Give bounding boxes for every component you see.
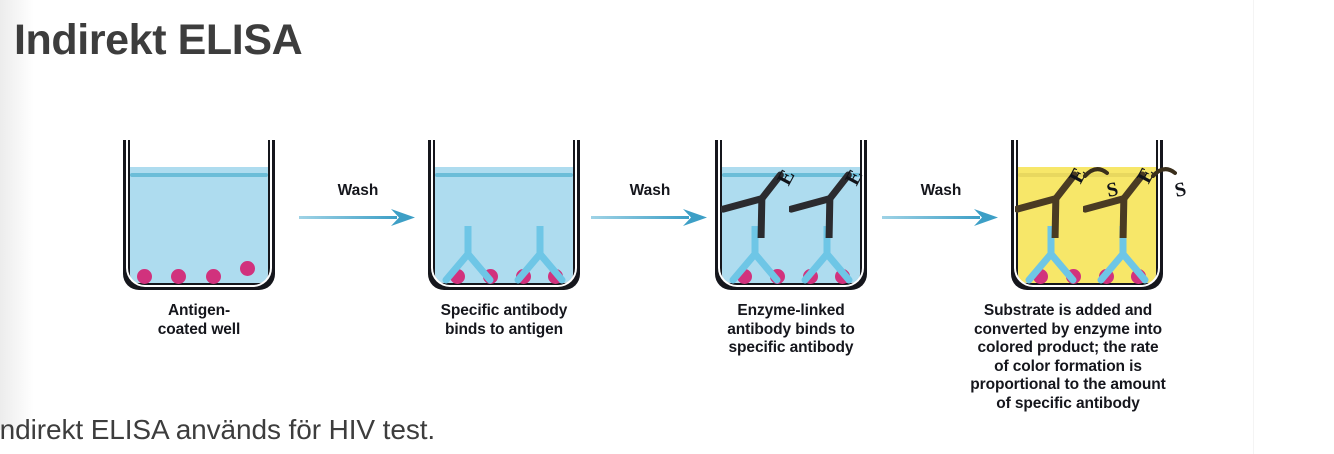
wash-label: Wash: [882, 182, 1000, 200]
arrow-right-icon: [299, 207, 417, 229]
caption-line: coated well: [104, 321, 294, 340]
elisa-diagram: Antigen- coated well Wash: [104, 140, 1264, 320]
step-2-caption: Specific antibody binds to antigen: [409, 302, 599, 339]
substrate-bond-arc: [1083, 164, 1109, 178]
elisa-step-1: Antigen- coated well: [104, 140, 294, 440]
slide-canvas: Indirekt ELISA Antigen- coated well Wash: [0, 0, 1334, 454]
caption-line: Specific antibody: [409, 302, 599, 321]
well-4: E S E S: [1011, 140, 1163, 290]
wash-arrow-1: Wash: [299, 182, 417, 238]
antigen-dot: [206, 269, 221, 284]
arrow-right-icon: [882, 207, 1000, 229]
caption-line: converted by enzyme into: [952, 321, 1184, 340]
caption-line: Antigen-: [104, 302, 294, 321]
well-2-meniscus: [435, 173, 573, 177]
well-1: [123, 140, 275, 290]
wash-label: Wash: [299, 182, 417, 200]
step-3-caption: Enzyme-linked antibody binds to specific…: [696, 302, 886, 358]
caption-line: specific antibody: [696, 339, 886, 358]
caption-line: proportional to the amount: [952, 376, 1184, 395]
step-4-caption: Substrate is added and converted by enzy…: [952, 302, 1184, 413]
wash-arrow-2: Wash: [591, 182, 709, 238]
caption-line: binds to antigen: [409, 321, 599, 340]
primary-antibody: [512, 226, 568, 286]
well-2: [428, 140, 580, 290]
well-3: E E: [715, 140, 867, 290]
antigen-dot: [171, 269, 186, 284]
substrate-bond-arc: [1151, 164, 1177, 178]
well-1-meniscus: [130, 173, 268, 177]
caption-line: antibody binds to: [696, 321, 886, 340]
page-title: Indirekt ELISA: [14, 16, 302, 65]
caption-line: of color formation is: [952, 358, 1184, 377]
primary-antibody: [440, 226, 496, 286]
step-1-caption: Antigen- coated well: [104, 302, 294, 339]
wash-arrow-3: Wash: [882, 182, 1000, 238]
bottom-note: Indirekt ELISA används för HIV test.: [0, 414, 435, 446]
caption-line: Substrate is added and: [952, 302, 1184, 321]
elisa-step-4: E S E S Substrate: [992, 140, 1182, 440]
elisa-step-3: E E Enzyme-linked antibody binds to spec…: [696, 140, 886, 440]
antigen-dot: [240, 261, 255, 276]
caption-line: Enzyme-linked: [696, 302, 886, 321]
caption-line: colored product; the rate: [952, 339, 1184, 358]
caption-line: of specific antibody: [952, 395, 1184, 414]
arrow-right-icon: [591, 207, 709, 229]
antigen-dot: [137, 269, 152, 284]
wash-label: Wash: [591, 182, 709, 200]
elisa-step-2: Specific antibody binds to antigen: [409, 140, 599, 440]
substrate-label: S: [1173, 178, 1189, 203]
